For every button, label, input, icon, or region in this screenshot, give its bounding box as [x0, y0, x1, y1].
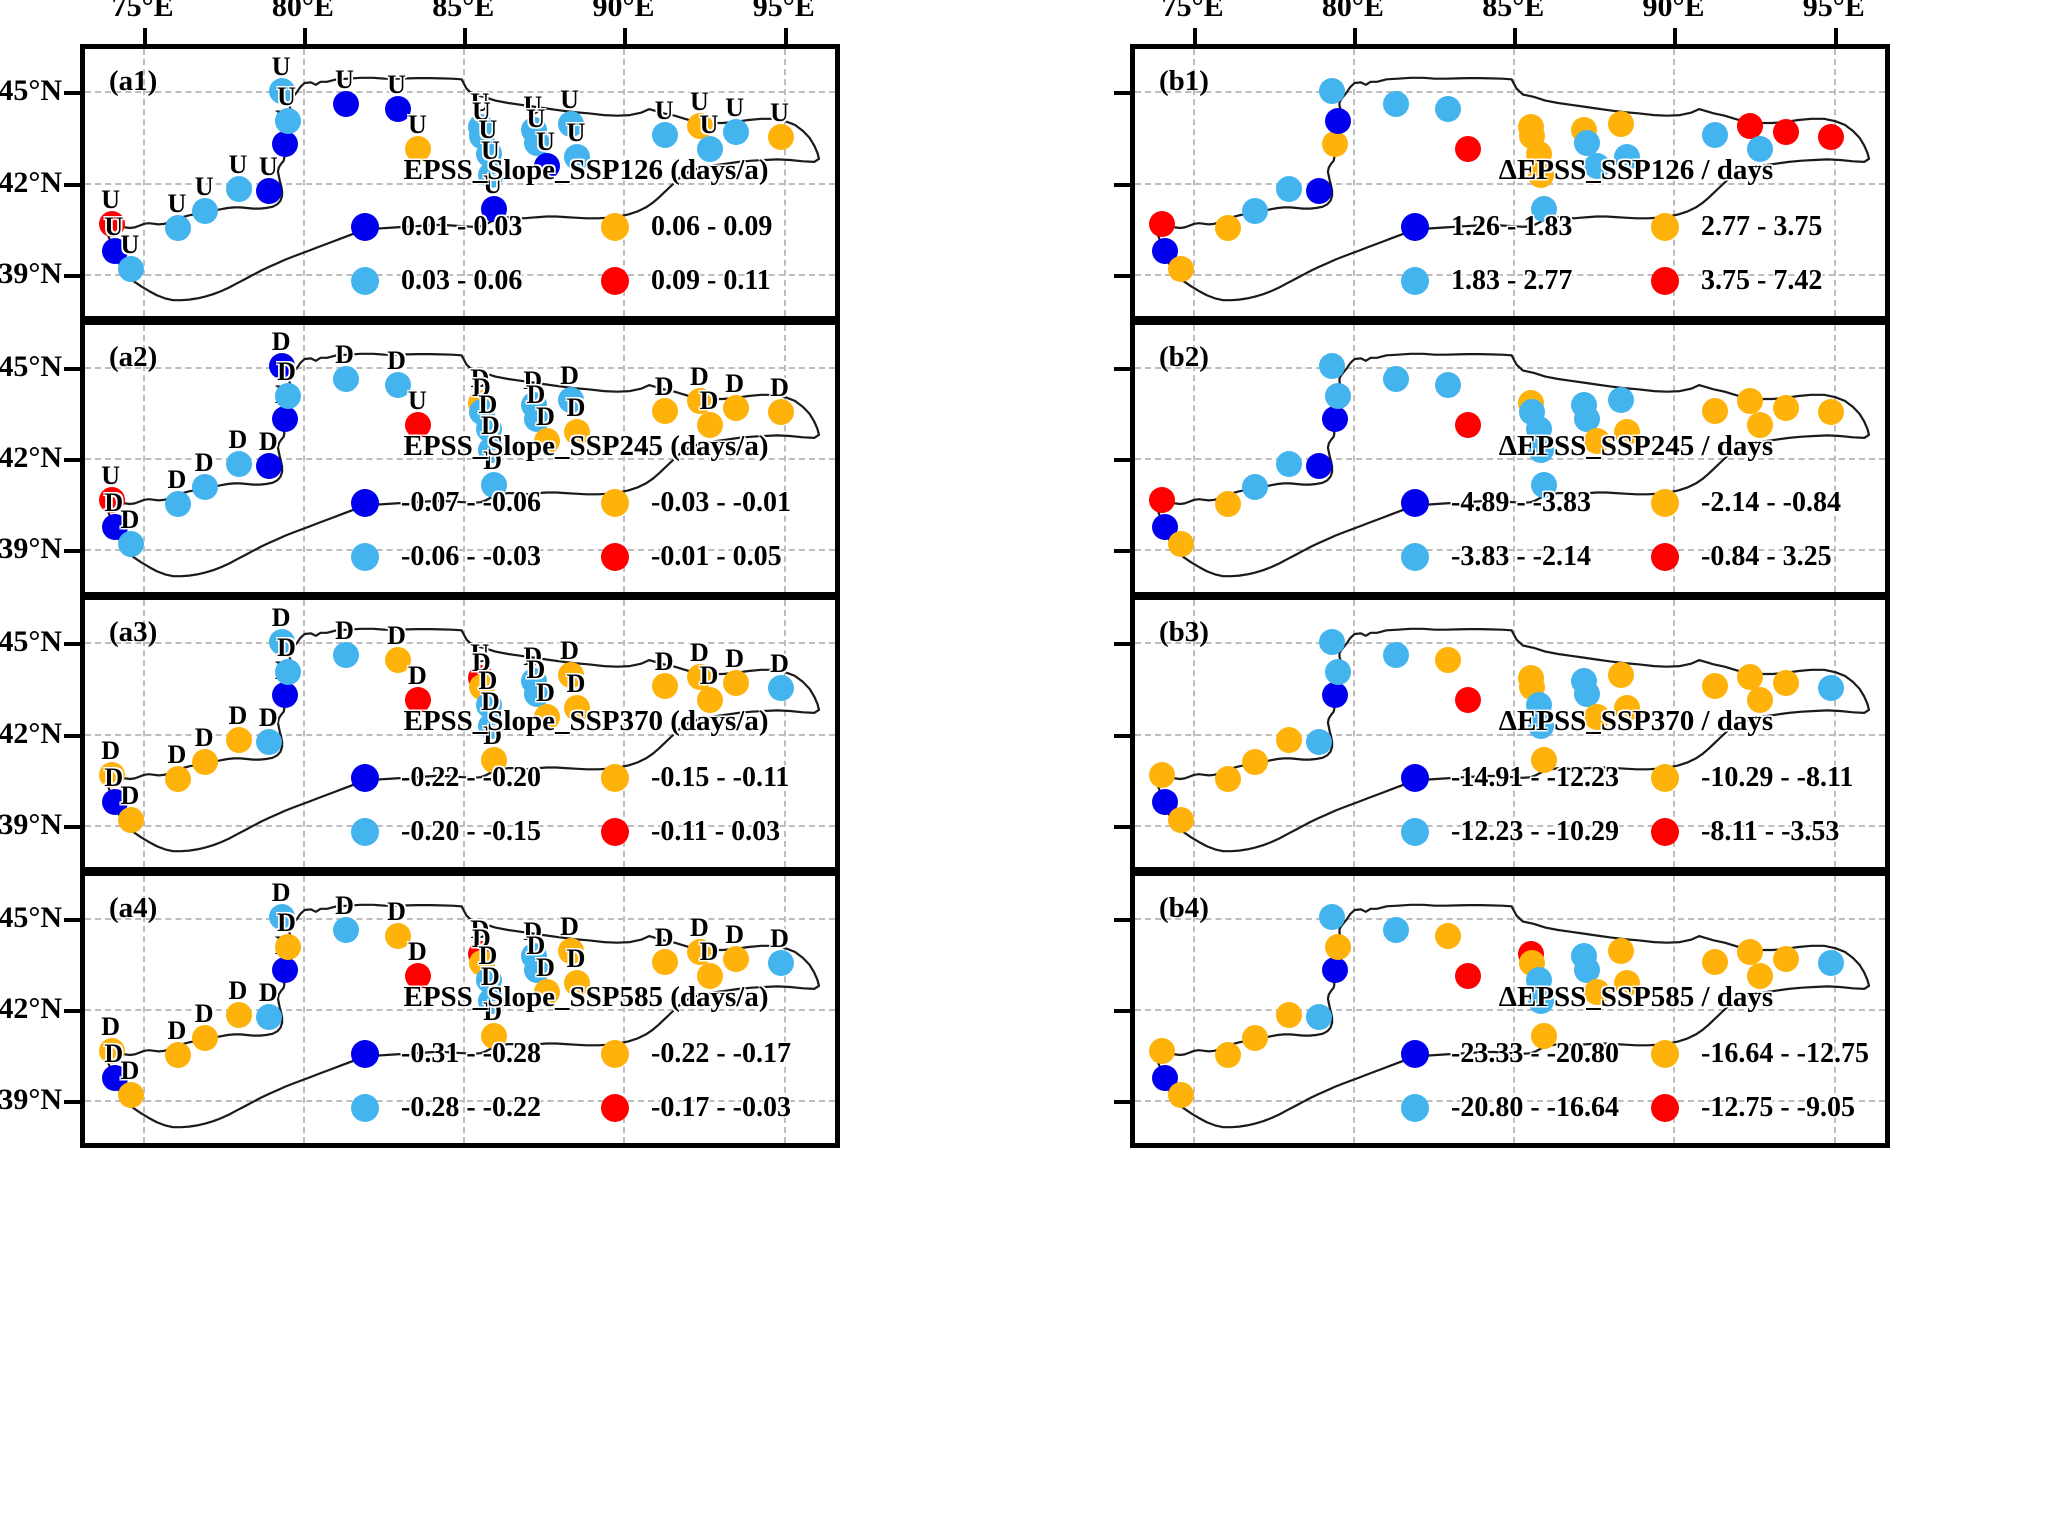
legend-swatch-class3: [1651, 1040, 1679, 1068]
map-panel-a4: (a4)DDDDDDDDDDDDDDDDDDDDDDDDDDDDEPSS_Slo…: [80, 871, 840, 1148]
map-panel-a3: (a3)DDDDDDDDDDDDDUDDDDDDDDDDDDDDEPSS_Slo…: [80, 595, 840, 872]
y-tick-39: [64, 274, 80, 278]
legend-title: EPSS_Slope_SSP245 (days/a): [351, 430, 821, 463]
legend-item: -0.31 - -0.28: [351, 1038, 571, 1070]
trend-direction-label: U: [101, 461, 120, 491]
panel-label-b3: (b3): [1159, 616, 1209, 649]
legend-item: 2.77 - 3.75: [1651, 211, 1871, 243]
y-tick-39: [64, 549, 80, 553]
trend-direction-label: D: [120, 1056, 139, 1086]
trend-direction-label: D: [387, 897, 406, 927]
y-tick-42: [1114, 458, 1130, 462]
legend-rows: -0.22 - -0.20-0.15 - -0.11-0.20 - -0.15-…: [351, 751, 821, 859]
trend-direction-label: D: [700, 937, 719, 967]
legend-swatch-class4: [1651, 1094, 1679, 1122]
legend-swatch-class4: [601, 543, 629, 571]
station-marker: [1242, 749, 1268, 775]
station-marker: [1322, 957, 1348, 983]
legend-label: -0.15 - -0.11: [651, 762, 789, 794]
legend-rows: -4.89 - -3.83-2.14 - -0.84-3.83 - -2.14-…: [1401, 476, 1871, 584]
trend-direction-label: D: [228, 425, 247, 455]
legend-b1: ΔEPSS_SSP126 / days1.26 - 1.832.77 - 3.7…: [1401, 154, 1871, 308]
trend-direction-label: U: [335, 65, 354, 95]
x-axis-label-85: 85°E: [1482, 0, 1544, 24]
legend-swatch-class2: [351, 818, 379, 846]
legend-item: 3.75 - 7.42: [1651, 265, 1871, 297]
station-marker: [1319, 904, 1345, 930]
station-marker: [1168, 1082, 1194, 1108]
legend-a4: EPSS_Slope_SSP585 (days/a)-0.31 - -0.28-…: [351, 981, 821, 1135]
x-tick-75: [1193, 28, 1197, 44]
legend-label: 0.09 - 0.11: [651, 265, 771, 297]
y-tick-45: [1114, 367, 1130, 371]
trend-direction-label: U: [536, 127, 555, 157]
legend-title: EPSS_Slope_SSP585 (days/a): [351, 981, 821, 1014]
panel-frame-a3: (a3)DDDDDDDDDDDDDUDDDDDDDDDDDDDDEPSS_Slo…: [80, 595, 840, 872]
legend-label: -10.29 - -8.11: [1701, 762, 1853, 794]
trend-direction-label: D: [770, 649, 789, 679]
legend-swatch-class3: [601, 1040, 629, 1068]
legend-swatch-class1: [1401, 489, 1429, 517]
station-marker: [1325, 108, 1351, 134]
station-marker: [1383, 642, 1409, 668]
legend-item: -3.83 - -2.14: [1401, 541, 1621, 573]
legend-label: -0.84 - 3.25: [1701, 541, 1832, 573]
legend-swatch-class4: [1651, 543, 1679, 571]
station-marker: [1383, 91, 1409, 117]
legend-item: -16.64 - -12.75: [1651, 1038, 1871, 1070]
station-marker: [1737, 113, 1763, 139]
station-marker: [1276, 1002, 1302, 1028]
x-axis-label-95: 95°E: [753, 0, 815, 24]
station-marker: [1306, 1004, 1332, 1030]
x-axis-label-95: 95°E: [1803, 0, 1865, 24]
x-axis-label-75: 75°E: [1162, 0, 1224, 24]
legend-row: 1.83 - 2.773.75 - 7.42: [1401, 254, 1871, 308]
trend-direction-label: D: [560, 912, 579, 942]
legend-a2: EPSS_Slope_SSP245 (days/a)-0.07 - -0.06-…: [351, 430, 821, 584]
trend-direction-label: D: [335, 340, 354, 370]
legend-item: -8.11 - -3.53: [1651, 816, 1871, 848]
y-tick-45: [64, 91, 80, 95]
station-marker: [1818, 675, 1844, 701]
legend-swatch-class2: [351, 543, 379, 571]
gridline-lat-45: [85, 642, 835, 644]
trend-direction-label: D: [567, 669, 586, 699]
station-marker: [1435, 96, 1461, 122]
station-marker: [1322, 406, 1348, 432]
station-marker: [1608, 387, 1634, 413]
station-marker: [1818, 124, 1844, 150]
legend-label: 0.03 - 0.06: [401, 265, 522, 297]
station-marker: [1242, 1025, 1268, 1051]
y-axis-label-42: 42°N: [0, 166, 62, 200]
legend-swatch-class3: [1651, 213, 1679, 241]
trend-direction-label: U: [655, 96, 674, 126]
legend-swatch-class3: [1651, 489, 1679, 517]
y-tick-39: [1114, 549, 1130, 553]
panel-label-a4: (a4): [109, 892, 157, 925]
station-marker: [1435, 923, 1461, 949]
station-marker: [1737, 388, 1763, 414]
y-tick-42: [64, 458, 80, 462]
trend-direction-label: D: [335, 891, 354, 921]
panel-label-b1: (b1): [1159, 65, 1209, 98]
trend-direction-label: D: [387, 346, 406, 376]
legend-item: -0.84 - 3.25: [1651, 541, 1871, 573]
station-marker: [1608, 938, 1634, 964]
station-marker: [1319, 353, 1345, 379]
legend-label: -12.23 - -10.29: [1451, 816, 1619, 848]
panel-frame-a4: (a4)DDDDDDDDDDDDDDDDDDDDDDDDDDDDEPSS_Slo…: [80, 871, 840, 1148]
legend-row: -12.23 - -10.29-8.11 - -3.53: [1401, 805, 1871, 859]
trend-direction-label: D: [770, 373, 789, 403]
y-axis-label-42: 42°N: [0, 992, 62, 1026]
legend-rows: -0.07 - -0.06-0.03 - -0.01-0.06 - -0.03-…: [351, 476, 821, 584]
trend-direction-label: D: [387, 621, 406, 651]
legend-rows: -14.91 - -12.23-10.29 - -8.11-12.23 - -1…: [1401, 751, 1871, 859]
station-marker: [1149, 1038, 1175, 1064]
legend-label: 1.26 - 1.83: [1451, 211, 1572, 243]
station-marker: [1322, 131, 1348, 157]
station-marker: [1737, 664, 1763, 690]
legend-swatch-class4: [601, 818, 629, 846]
legend-label: 0.01 - 0.03: [401, 211, 522, 243]
trend-direction-label: U: [120, 230, 139, 260]
legend-row: -0.20 - -0.15-0.11 - 0.03: [351, 805, 821, 859]
panel-label-b4: (b4): [1159, 892, 1209, 925]
y-axis-label-42: 42°N: [0, 441, 62, 475]
y-axis-label-45: 45°N: [0, 350, 62, 384]
legend-title: EPSS_Slope_SSP126 (days/a): [351, 154, 821, 187]
trend-direction-label: D: [259, 703, 278, 733]
trend-direction-label: U: [560, 85, 579, 115]
x-tick-95: [1834, 28, 1838, 44]
legend-item: -0.11 - 0.03: [601, 816, 821, 848]
trend-direction-label: U: [725, 93, 744, 123]
legend-label: 2.77 - 3.75: [1701, 211, 1822, 243]
y-tick-45: [1114, 642, 1130, 646]
legend-swatch-class1: [351, 213, 379, 241]
station-marker: [1608, 662, 1634, 688]
y-tick-45: [64, 367, 80, 371]
station-marker: [1215, 491, 1241, 517]
trend-direction-label: U: [259, 152, 278, 182]
trend-direction-label: D: [277, 633, 296, 663]
trend-direction-label: U: [272, 52, 291, 82]
station-marker: [1773, 670, 1799, 696]
trend-direction-label: D: [277, 357, 296, 387]
legend-title: ΔEPSS_SSP126 / days: [1401, 154, 1871, 187]
legend-item: -0.22 - -0.17: [601, 1038, 821, 1070]
panel-label-a1: (a1): [109, 65, 157, 98]
figure-root: (a1)UUUUUUUUUUUUUUUUUUUUUUUUUUUUEPSS_Slo…: [0, 0, 2067, 1532]
x-tick-80: [303, 28, 307, 44]
legend-swatch-class4: [1651, 818, 1679, 846]
y-axis-label-39: 39°N: [0, 257, 62, 291]
x-tick-90: [1673, 28, 1677, 44]
legend-swatch-class3: [1651, 764, 1679, 792]
station-marker: [1818, 950, 1844, 976]
x-tick-75: [143, 28, 147, 44]
legend-label: -0.20 - -0.15: [401, 816, 541, 848]
station-marker: [1383, 366, 1409, 392]
legend-item: -0.22 - -0.20: [351, 762, 571, 794]
panel-label-b2: (b2): [1159, 341, 1209, 374]
legend-label: -0.17 - -0.03: [651, 1092, 791, 1124]
trend-direction-label: D: [770, 924, 789, 954]
trend-direction-label: U: [408, 386, 427, 416]
legend-item: -10.29 - -8.11: [1651, 762, 1871, 794]
legend-item: 0.06 - 0.09: [601, 211, 821, 243]
legend-label: -23.33 - -20.80: [1451, 1038, 1619, 1070]
panel-frame-b2: (b2)ΔEPSS_SSP245 / days-4.89 - -3.83-2.1…: [1130, 320, 1890, 597]
trend-direction-label: D: [195, 999, 214, 1029]
legend-item: -0.15 - -0.11: [601, 762, 821, 794]
x-axis-label-80: 80°E: [272, 0, 334, 24]
gridline-lat-45: [1135, 642, 1885, 644]
legend-title: ΔEPSS_SSP370 / days: [1401, 705, 1871, 738]
gridline-lat-45: [85, 91, 835, 93]
trend-direction-label: D: [725, 920, 744, 950]
trend-direction-label: D: [272, 603, 291, 633]
trend-direction-label: U: [387, 70, 406, 100]
legend-row: -14.91 - -12.23-10.29 - -8.11: [1401, 751, 1871, 805]
trend-direction-label: D: [560, 636, 579, 666]
legend-swatch-class1: [1401, 213, 1429, 241]
trend-direction-label: U: [195, 172, 214, 202]
legend-item: 0.01 - 0.03: [351, 211, 571, 243]
trend-direction-label: U: [567, 118, 586, 148]
y-tick-45: [1114, 918, 1130, 922]
legend-row: -23.33 - -20.80-16.64 - -12.75: [1401, 1027, 1871, 1081]
y-tick-39: [1114, 825, 1130, 829]
legend-swatch-class2: [351, 1094, 379, 1122]
station-marker: [1149, 487, 1175, 513]
legend-row: 0.01 - 0.030.06 - 0.09: [351, 200, 821, 254]
legend-item: 0.09 - 0.11: [601, 265, 821, 297]
legend-item: -0.07 - -0.06: [351, 487, 571, 519]
station-marker: [1773, 395, 1799, 421]
legend-item: 1.26 - 1.83: [1401, 211, 1621, 243]
map-panel-b2: (b2)ΔEPSS_SSP245 / days-4.89 - -3.83-2.1…: [1130, 320, 1890, 597]
legend-swatch-class2: [1401, 818, 1429, 846]
legend-label: -0.11 - 0.03: [651, 816, 780, 848]
legend-item: -0.01 - 0.05: [601, 541, 821, 573]
legend-label: -16.64 - -12.75: [1701, 1038, 1869, 1070]
x-axis-label-90: 90°E: [1642, 0, 1704, 24]
legend-rows: -0.31 - -0.28-0.22 - -0.17-0.28 - -0.22-…: [351, 1027, 821, 1135]
station-marker: [1383, 917, 1409, 943]
legend-item: -14.91 - -12.23: [1401, 762, 1621, 794]
y-tick-45: [64, 918, 80, 922]
panel-frame-b1: (b1)ΔEPSS_SSP126 / days1.26 - 1.832.77 -…: [1130, 44, 1890, 321]
map-panel-a1: (a1)UUUUUUUUUUUUUUUUUUUUUUUUUUUUEPSS_Slo…: [80, 44, 840, 321]
y-axis-label-39: 39°N: [0, 532, 62, 566]
trend-direction-label: D: [536, 678, 555, 708]
station-marker: [1215, 1042, 1241, 1068]
station-marker: [1608, 111, 1634, 137]
station-marker: [1322, 682, 1348, 708]
legend-label: -0.03 - -0.01: [651, 487, 791, 519]
trend-direction-label: D: [228, 976, 247, 1006]
gridline-lat-45: [85, 367, 835, 369]
legend-row: -0.06 - -0.03-0.01 - 0.05: [351, 530, 821, 584]
trend-direction-label: U: [277, 82, 296, 112]
map-panel-b3: (b3)ΔEPSS_SSP370 / days-14.91 - -12.23-1…: [1130, 595, 1890, 872]
station-marker: [1168, 531, 1194, 557]
legend-label: -0.22 - -0.20: [401, 762, 541, 794]
trend-direction-label: D: [272, 878, 291, 908]
map-panel-b4: (b4)ΔEPSS_SSP585 / days-23.33 - -20.80-1…: [1130, 871, 1890, 1148]
legend-swatch-class2: [1401, 1094, 1429, 1122]
gridline-lat-45: [1135, 367, 1885, 369]
station-marker: [1215, 766, 1241, 792]
legend-label: -20.80 - -16.64: [1451, 1092, 1619, 1124]
legend-item: -2.14 - -0.84: [1651, 487, 1871, 519]
legend-item: -0.17 - -0.03: [601, 1092, 821, 1124]
trend-direction-label: D: [168, 1016, 187, 1046]
trend-direction-label: D: [120, 505, 139, 535]
station-marker: [1276, 451, 1302, 477]
legend-rows: -23.33 - -20.80-16.64 - -12.75-20.80 - -…: [1401, 1027, 1871, 1135]
y-tick-42: [1114, 734, 1130, 738]
gridline-lat-45: [85, 918, 835, 920]
x-axis-label-85: 85°E: [432, 0, 494, 24]
x-tick-90: [623, 28, 627, 44]
trend-direction-label: D: [655, 923, 674, 953]
legend-swatch-class4: [601, 267, 629, 295]
legend-item: -23.33 - -20.80: [1401, 1038, 1621, 1070]
y-tick-42: [64, 183, 80, 187]
trend-direction-label: D: [195, 448, 214, 478]
trend-direction-label: U: [101, 185, 120, 215]
trend-direction-label: D: [272, 327, 291, 357]
legend-label: -14.91 - -12.23: [1451, 762, 1619, 794]
legend-swatch-class3: [601, 213, 629, 241]
trend-direction-label: U: [228, 150, 247, 180]
trend-direction-label: D: [101, 1012, 120, 1042]
legend-label: -8.11 - -3.53: [1701, 816, 1839, 848]
trend-direction-label: U: [408, 110, 427, 140]
legend-label: -3.83 - -2.14: [1451, 541, 1591, 573]
legend-title: ΔEPSS_SSP245 / days: [1401, 430, 1871, 463]
trend-direction-label: U: [168, 189, 187, 219]
y-axis-label-45: 45°N: [0, 625, 62, 659]
station-marker: [1435, 647, 1461, 673]
trend-direction-label: D: [725, 644, 744, 674]
legend-item: -4.89 - -3.83: [1401, 487, 1621, 519]
station-marker: [1306, 729, 1332, 755]
legend-swatch-class1: [351, 489, 379, 517]
station-marker: [1702, 673, 1728, 699]
legend-b3: ΔEPSS_SSP370 / days-14.91 - -12.23-10.29…: [1401, 705, 1871, 859]
station-marker: [1737, 939, 1763, 965]
trend-direction-label: D: [101, 736, 120, 766]
y-tick-42: [1114, 183, 1130, 187]
legend-swatch-class1: [351, 764, 379, 792]
station-marker: [1319, 78, 1345, 104]
station-marker: [1325, 383, 1351, 409]
station-marker: [1818, 399, 1844, 425]
x-tick-80: [1353, 28, 1357, 44]
panel-frame-b4: (b4)ΔEPSS_SSP585 / days-23.33 - -20.80-1…: [1130, 871, 1890, 1148]
station-marker: [1325, 934, 1351, 960]
legend-a1: EPSS_Slope_SSP126 (days/a)0.01 - 0.030.0…: [351, 154, 821, 308]
legend-item: -0.03 - -0.01: [601, 487, 821, 519]
trend-direction-label: D: [536, 953, 555, 983]
trend-direction-label: D: [228, 701, 247, 731]
panel-frame-a1: (a1)UUUUUUUUUUUUUUUUUUUUUUUUUUUUEPSS_Slo…: [80, 44, 840, 321]
trend-direction-label: D: [335, 616, 354, 646]
station-marker: [1306, 453, 1332, 479]
trend-direction-label: D: [277, 908, 296, 938]
station-marker: [1702, 949, 1728, 975]
legend-item: 0.03 - 0.06: [351, 265, 571, 297]
panel-label-a3: (a3): [109, 616, 157, 649]
legend-label: 3.75 - 7.42: [1701, 265, 1822, 297]
y-axis-label-45: 45°N: [0, 74, 62, 108]
legend-rows: 0.01 - 0.030.06 - 0.090.03 - 0.060.09 - …: [351, 200, 821, 308]
trend-direction-label: D: [700, 661, 719, 691]
y-tick-39: [1114, 274, 1130, 278]
station-marker: [1319, 629, 1345, 655]
y-tick-39: [64, 825, 80, 829]
trend-direction-label: D: [259, 978, 278, 1008]
legend-row: -0.07 - -0.06-0.03 - -0.01: [351, 476, 821, 530]
trend-direction-label: D: [725, 369, 744, 399]
station-marker: [1773, 119, 1799, 145]
legend-label: -4.89 - -3.83: [1451, 487, 1591, 519]
trend-direction-label: U: [770, 98, 789, 128]
legend-swatch-class1: [351, 1040, 379, 1068]
legend-rows: 1.26 - 1.832.77 - 3.751.83 - 2.773.75 - …: [1401, 200, 1871, 308]
legend-row: -20.80 - -16.64-12.75 - -9.05: [1401, 1081, 1871, 1135]
legend-item: -20.80 - -16.64: [1401, 1092, 1621, 1124]
legend-label: -2.14 - -0.84: [1701, 487, 1841, 519]
x-tick-85: [463, 28, 467, 44]
legend-item: -12.75 - -9.05: [1651, 1092, 1871, 1124]
panel-frame-a2: (a2)UDDDDDDDDDDDUDDDDDDDDDDDDDDDEPSS_Slo…: [80, 320, 840, 597]
legend-row: -3.83 - -2.14-0.84 - 3.25: [1401, 530, 1871, 584]
station-marker: [1242, 474, 1268, 500]
legend-label: -0.01 - 0.05: [651, 541, 782, 573]
station-marker: [1149, 762, 1175, 788]
y-axis-label-42: 42°N: [0, 717, 62, 751]
legend-title: EPSS_Slope_SSP370 (days/a): [351, 705, 821, 738]
legend-row: -0.31 - -0.28-0.22 - -0.17: [351, 1027, 821, 1081]
station-marker: [1149, 211, 1175, 237]
trend-direction-label: D: [120, 781, 139, 811]
station-marker: [1702, 398, 1728, 424]
station-marker: [1702, 122, 1728, 148]
map-panel-a2: (a2)UDDDDDDDDDDDUDDDDDDDDDDDDDDDEPSS_Slo…: [80, 320, 840, 597]
map-panel-b1: (b1)ΔEPSS_SSP126 / days1.26 - 1.832.77 -…: [1130, 44, 1890, 321]
legend-row: -4.89 - -3.83-2.14 - -0.84: [1401, 476, 1871, 530]
trend-direction-label: D: [259, 427, 278, 457]
legend-item: 1.83 - 2.77: [1401, 265, 1621, 297]
y-tick-42: [64, 1009, 80, 1013]
legend-a3: EPSS_Slope_SSP370 (days/a)-0.22 - -0.20-…: [351, 705, 821, 859]
legend-swatch-class2: [351, 267, 379, 295]
station-marker: [1215, 215, 1241, 241]
y-tick-39: [1114, 1100, 1130, 1104]
legend-swatch-class2: [1401, 543, 1429, 571]
y-axis-label-39: 39°N: [0, 808, 62, 842]
legend-row: -0.28 - -0.22-0.17 - -0.03: [351, 1081, 821, 1135]
legend-row: -0.22 - -0.20-0.15 - -0.11: [351, 751, 821, 805]
station-marker: [1276, 176, 1302, 202]
